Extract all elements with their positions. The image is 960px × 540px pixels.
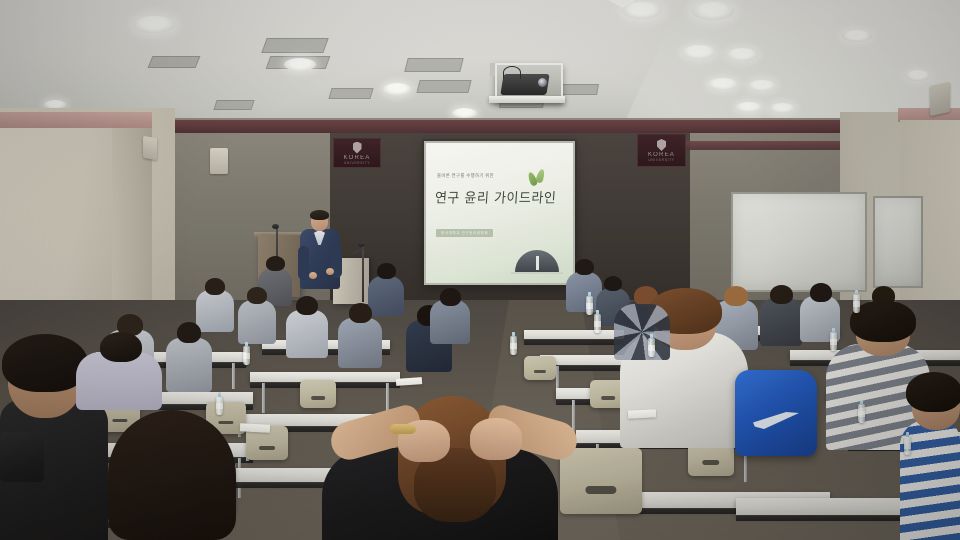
water-bottle: [904, 436, 911, 455]
attendee-hair: [247, 287, 267, 304]
attendee: [760, 298, 802, 346]
dome-base: [511, 272, 563, 274]
presenter-hand-left: [309, 272, 317, 279]
ceiling-vent: [404, 58, 463, 72]
attendee-hair: [100, 332, 142, 362]
recessed-ceiling-light: [284, 58, 316, 71]
shoulder-bag: [0, 432, 44, 482]
attendee-hair: [205, 278, 225, 295]
microphone-head-icon: [272, 224, 279, 229]
recessed-ceiling-light: [708, 78, 738, 90]
slide-chip-label: 한국대학교 연구윤리위원회: [436, 229, 493, 237]
bracelet: [390, 424, 416, 434]
ceiling-vent: [261, 38, 328, 53]
banner-right: KOREA UNIVERSITY: [637, 134, 686, 167]
recessed-ceiling-light: [736, 102, 762, 112]
attendee: [166, 338, 212, 392]
banner-right-subtitle: UNIVERSITY: [648, 158, 674, 162]
ceiling-vent: [213, 100, 254, 110]
wall-speaker: [210, 148, 228, 174]
attendee: [338, 318, 382, 368]
chair: [524, 356, 556, 380]
chair: [560, 448, 642, 514]
attendee-hair: [575, 259, 594, 275]
water-bottle: [510, 336, 517, 355]
presentation-slide: 올바른 연구를 수행하기 위한 연구 윤리 가이드라인 한국대학교 연구윤리위원…: [426, 143, 573, 283]
recessed-ceiling-light: [842, 30, 872, 42]
crest-icon: [657, 139, 666, 151]
microphone-head-icon: [358, 242, 365, 247]
ceiling-vent: [559, 84, 599, 95]
attendee-hair: [296, 296, 318, 315]
banner-left: KOREA UNIVERSITY: [333, 138, 381, 168]
wall-speaker: [143, 136, 157, 160]
backpack: [735, 370, 817, 456]
dome-building-icon: [515, 250, 559, 272]
attendee-hair: [266, 256, 285, 271]
recessed-ceiling-light: [383, 83, 411, 95]
water-bottle: [830, 332, 837, 351]
wall-trim-band: [150, 120, 850, 133]
attendee-hair: [906, 372, 960, 412]
attendee-foreground-hair: [108, 410, 236, 540]
crest-icon: [353, 142, 362, 154]
recessed-ceiling-light: [748, 80, 776, 91]
column-capital: [0, 112, 152, 129]
whiteboard: [731, 192, 867, 292]
water-bottle: [594, 314, 601, 333]
projection-screen: 올바른 연구를 수행하기 위한 연구 윤리 가이드라인 한국대학교 연구윤리위원…: [424, 141, 575, 285]
attendee-hand-right: [470, 418, 522, 460]
attendee: [238, 300, 276, 344]
water-bottle: [216, 396, 223, 415]
lecture-hall-photo: KOREA UNIVERSITY KOREA UNIVERSITY 올바른 연구…: [0, 0, 960, 540]
projector-shelf: [489, 96, 565, 103]
recessed-ceiling-light: [770, 103, 795, 113]
handout-paper: [240, 423, 270, 433]
presenter-hand-right: [326, 268, 334, 275]
attendee-hair: [349, 303, 372, 323]
attendee: [368, 276, 404, 316]
attendee-hair: [770, 285, 793, 304]
projector-mount: [490, 63, 495, 76]
attendee: [196, 290, 234, 332]
attendee-hair: [177, 322, 201, 343]
projector-lens-icon: [538, 78, 547, 87]
attendee-hair: [724, 286, 748, 306]
chair: [300, 380, 336, 408]
microphone-stand: [362, 246, 364, 302]
recessed-ceiling-light: [905, 70, 931, 81]
ceiling-vent: [328, 88, 373, 99]
recessed-ceiling-light: [133, 16, 175, 33]
banner-left-subtitle: UNIVERSITY: [344, 161, 370, 165]
slide-subtitle: 올바른 연구를 수행하기 위한: [437, 173, 494, 179]
nike-swoosh-icon: [753, 412, 799, 429]
attendee: [286, 310, 328, 358]
wall-speaker: [930, 82, 950, 116]
recessed-ceiling-light: [622, 2, 662, 19]
water-bottle: [858, 404, 865, 423]
attendee-hair: [377, 263, 396, 279]
handout-paper: [628, 409, 656, 418]
attendee-patterned-blouse: [614, 304, 670, 360]
water-bottle: [853, 294, 860, 313]
recessed-ceiling-light: [726, 48, 758, 61]
slide-title: 연구 윤리 가이드라인: [434, 186, 557, 206]
attendee: [430, 300, 470, 344]
whiteboard-secondary: [873, 196, 923, 288]
projector-cable: [503, 66, 521, 79]
recessed-ceiling-light: [452, 108, 477, 118]
attendee-hair: [604, 276, 622, 291]
ceiling-vent: [416, 80, 471, 93]
presenter-arm-left: [298, 246, 309, 280]
water-bottle: [648, 338, 655, 357]
attendee-hair: [810, 283, 832, 302]
presenter-hair: [310, 210, 329, 220]
water-bottle: [586, 296, 593, 315]
water-bottle: [243, 346, 250, 365]
recessed-ceiling-light: [692, 2, 734, 20]
attendee-hair: [440, 288, 461, 306]
recessed-ceiling-light: [682, 45, 716, 59]
ceiling-vent: [148, 56, 201, 68]
